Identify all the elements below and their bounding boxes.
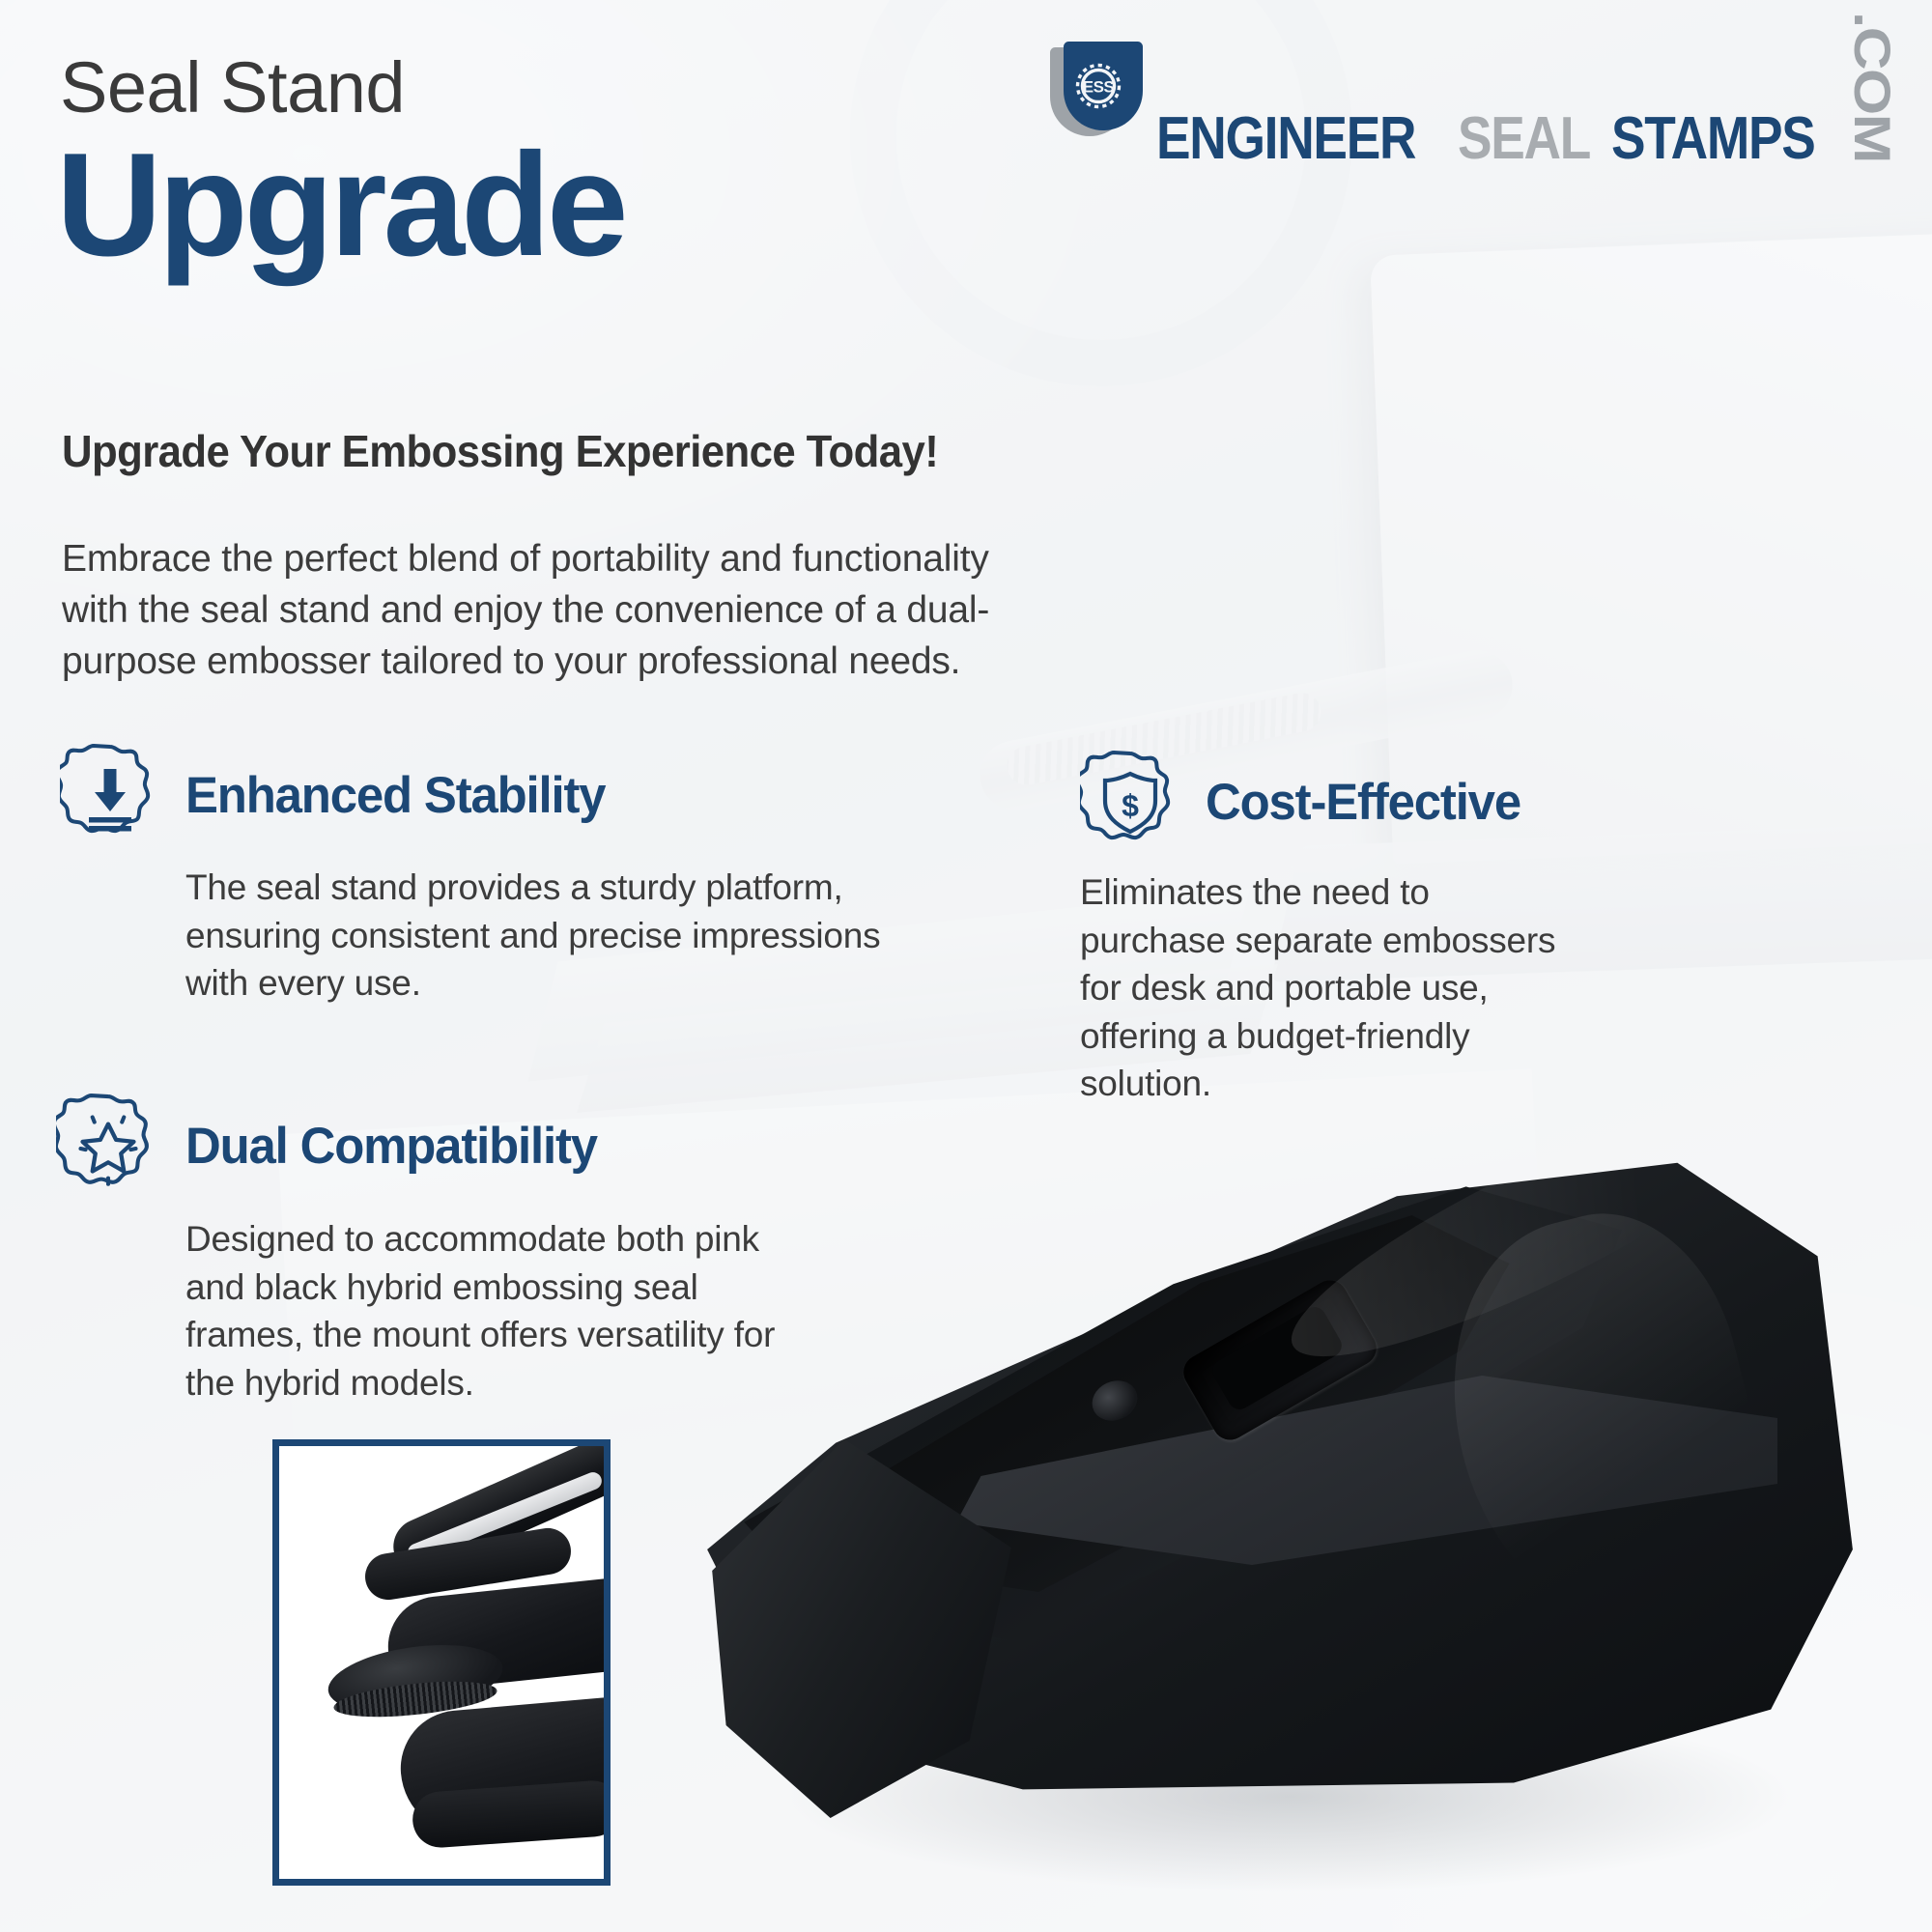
svg-text:ESS: ESS	[1083, 77, 1115, 96]
ess-shield-gear-icon: ESS	[1050, 38, 1143, 138]
feature-enhanced-stability: Enhanced Stability The seal stand provid…	[60, 742, 910, 1008]
eyebrow-title: Seal Stand	[60, 46, 405, 128]
svg-text:$: $	[1122, 788, 1139, 823]
feature-header: Enhanced Stability	[60, 742, 910, 848]
page-title: Upgrade	[56, 131, 625, 278]
subheading: Upgrade Your Embossing Experience Today!	[62, 425, 938, 477]
brand-logo[interactable]: ESS ENGINEER SEAL STAMPS .COM	[1050, 12, 1899, 164]
brand-word-seal: SEAL	[1458, 115, 1590, 164]
badge-shield-dollar-icon: $	[1080, 749, 1180, 855]
embosser-on-stand-inset-photo	[272, 1439, 611, 1886]
feature-title: Cost-Effective	[1206, 773, 1520, 832]
feature-header: $ Cost-Effective	[1080, 749, 1911, 855]
seal-stand-hero-photo	[667, 1024, 1932, 1932]
intro-paragraph: Embrace the perfect blend of portability…	[62, 533, 1057, 687]
feature-body: The seal stand provides a sturdy platfor…	[185, 864, 881, 1008]
feature-title: Enhanced Stability	[185, 766, 605, 825]
feature-title: Dual Compatibility	[185, 1117, 597, 1176]
badge-sparkle-star-icon	[56, 1092, 160, 1200]
badge-download-arrow-icon	[60, 742, 160, 848]
brand-wordmark: ENGINEER SEAL STAMPS .COM	[1156, 12, 1899, 164]
brand-word-engineer: ENGINEER	[1156, 115, 1415, 164]
brand-word-stamps: STAMPS	[1611, 115, 1814, 164]
brand-tld: .COM	[1850, 12, 1892, 162]
